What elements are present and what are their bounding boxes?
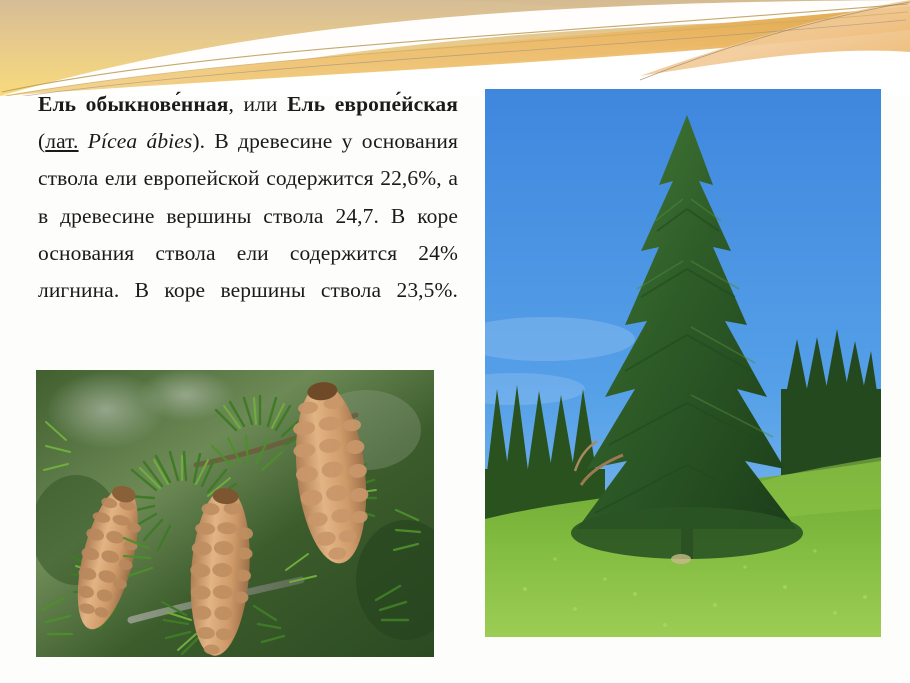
paragraph-species-description: Ель обыкнове́нная, или Ель европе́йская … xyxy=(38,86,458,346)
spruce-tree-photo xyxy=(485,89,881,637)
cones-illustration xyxy=(36,370,434,657)
text-space xyxy=(79,129,88,153)
slide-canvas: Ель обыкнове́нная, или Ель европе́йская … xyxy=(0,0,910,683)
species-latin-name: Pícea ábies xyxy=(88,129,193,153)
spruce-cones-photo xyxy=(36,370,434,657)
species-common-name: Ель обыкнове́нная xyxy=(38,92,228,116)
header-swoosh-decoration xyxy=(0,0,910,96)
small-stone xyxy=(671,554,691,564)
latin-marker: лат. xyxy=(45,129,78,153)
tree-skirt-shadow xyxy=(571,507,803,559)
species-alt-name: Ель европе́йская xyxy=(287,92,458,116)
text-comma-or: , или xyxy=(228,92,287,116)
slide-body-text: Ель обыкнове́нная, или Ель европе́йская … xyxy=(38,86,458,346)
tree-illustration xyxy=(485,89,881,637)
swoosh-svg xyxy=(0,0,910,96)
text-body-remainder: ). В древесине у основания ствола ели ев… xyxy=(38,129,458,302)
